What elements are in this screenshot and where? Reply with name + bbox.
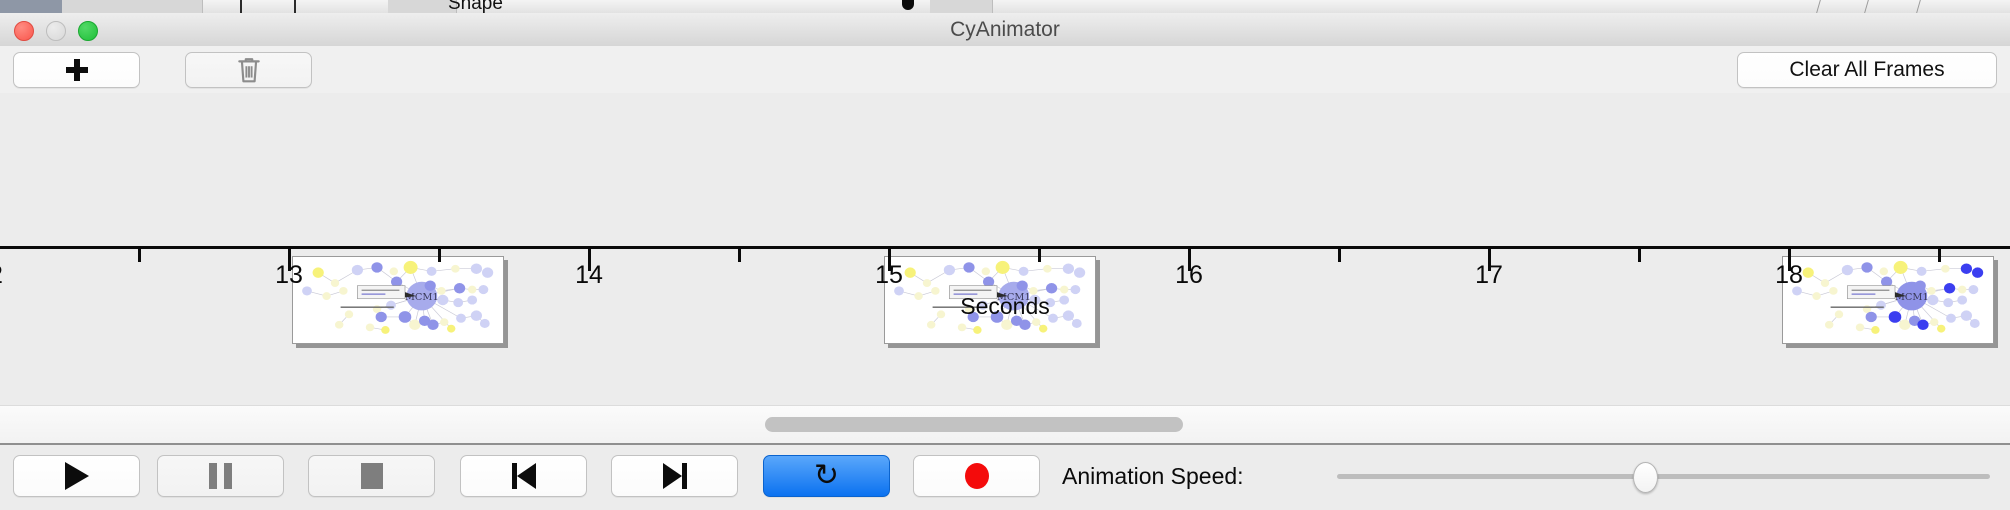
title-bar: CyAnimator — [0, 13, 2010, 47]
skip-back-icon — [512, 463, 536, 489]
delete-frame-button[interactable] — [185, 52, 312, 88]
playback-controls: ↻ Animation Speed: — [0, 447, 2010, 510]
cyanimator-window: Shape CyAnimator — [0, 0, 2010, 510]
timeline-scrollbar[interactable] — [0, 405, 2010, 445]
skip-forward-icon — [663, 463, 687, 489]
axis-tick-minor — [1638, 249, 1641, 262]
record-icon — [965, 463, 989, 489]
timeline-panel[interactable]: MCM1MCM1MCM1 12131415161718 Seconds — [0, 93, 2010, 405]
axis-tick-label: 18 — [1775, 261, 1803, 290]
axis-title: Seconds — [0, 293, 2010, 320]
axis-tick-minor — [138, 249, 141, 262]
pause-icon — [209, 463, 232, 489]
record-button[interactable] — [913, 455, 1040, 497]
clear-all-frames-label: Clear All Frames — [1789, 58, 1944, 82]
slider-thumb[interactable] — [1633, 462, 1658, 493]
add-frame-button[interactable] — [13, 52, 140, 88]
trash-icon — [236, 56, 262, 84]
axis-tick-minor — [1038, 249, 1041, 262]
loop-icon: ↻ — [814, 461, 839, 491]
axis-tick-minor — [738, 249, 741, 262]
axis-tick-label: 12 — [0, 261, 3, 290]
stop-button[interactable] — [308, 455, 435, 497]
axis-tick-label: 15 — [875, 261, 903, 290]
skip-back-button[interactable] — [460, 455, 587, 497]
axis-tick-label: 13 — [275, 261, 303, 290]
toolbar: Clear All Frames — [0, 46, 2010, 94]
timeline-axis — [0, 246, 2010, 249]
pause-button[interactable] — [157, 455, 284, 497]
play-icon — [65, 462, 89, 490]
loop-button[interactable]: ↻ — [763, 455, 890, 497]
axis-tick-label: 16 — [1175, 261, 1203, 290]
background-window-strip: Shape — [0, 0, 2010, 14]
axis-tick-minor — [438, 249, 441, 262]
background-window-title: Shape — [448, 0, 503, 14]
axis-tick-minor — [1338, 249, 1341, 262]
animation-speed-slider[interactable] — [1337, 455, 1990, 497]
scrollbar-thumb[interactable] — [765, 417, 1183, 432]
clear-all-frames-button[interactable]: Clear All Frames — [1737, 52, 1997, 88]
skip-forward-button[interactable] — [611, 455, 738, 497]
axis-tick-label: 14 — [575, 261, 603, 290]
slider-track[interactable] — [1337, 474, 1990, 479]
axis-tick-label: 17 — [1475, 261, 1503, 290]
animation-speed-label: Animation Speed: — [1062, 455, 1244, 497]
axis-tick-minor — [1938, 249, 1941, 262]
play-button[interactable] — [13, 455, 140, 497]
window-title: CyAnimator — [0, 13, 2010, 46]
stop-icon — [361, 463, 383, 489]
plus-icon — [65, 58, 89, 82]
